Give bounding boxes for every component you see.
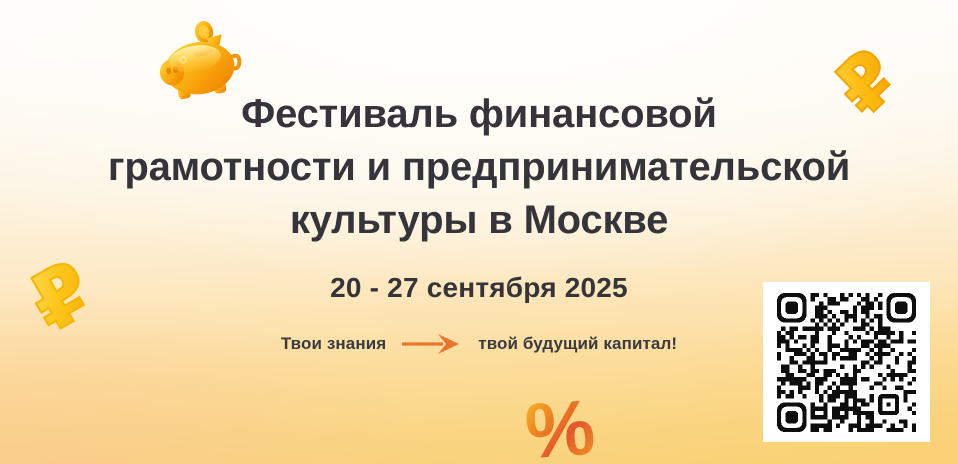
qr-code-card[interactable] xyxy=(763,282,930,442)
page-title: Фестиваль финансовой грамотности и предп… xyxy=(0,88,958,247)
tagline-after: твой будущий капитал! xyxy=(478,334,677,354)
festival-banner: ₽ ₽ xyxy=(0,0,958,464)
title-line-2: грамотности и предпринимательской xyxy=(0,141,958,194)
title-line-1: Фестиваль финансовой xyxy=(0,88,958,141)
arrow-right-icon xyxy=(402,333,462,355)
qr-code[interactable] xyxy=(777,293,916,432)
title-line-3: культуры в Москве xyxy=(0,194,958,247)
tagline-before: Твои знания xyxy=(281,334,386,354)
